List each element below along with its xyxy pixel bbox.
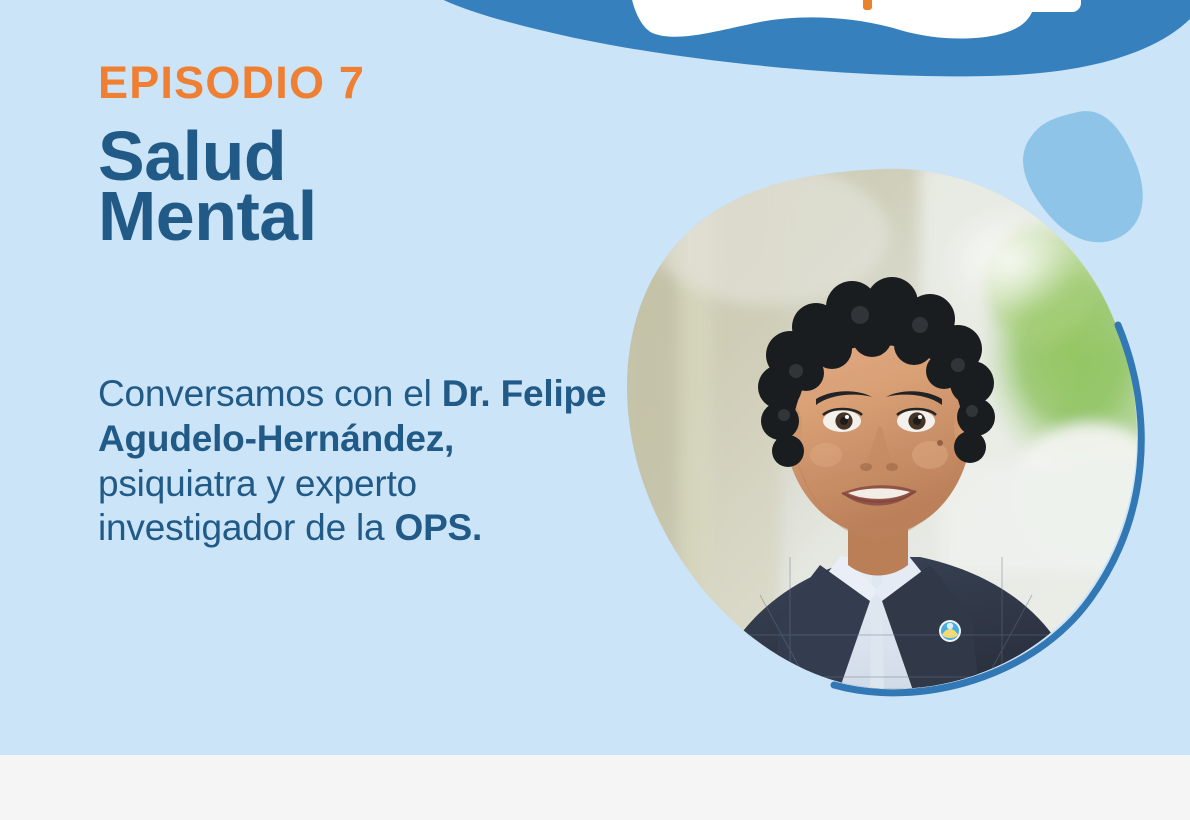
page-bottom-strip — [0, 755, 1190, 820]
guest-portrait-photo — [620, 165, 1150, 705]
episode-promo-card: EPISODIO 7 Salud Mental Conversamos con … — [0, 0, 1190, 820]
page-title: Salud Mental — [98, 126, 618, 246]
episode-number-label: EPISODIO 7 — [98, 60, 618, 106]
logo-orange-mark — [863, 0, 872, 10]
episode-description: Conversamos con el Dr. Felipe Agudelo-He… — [98, 372, 618, 551]
hero-text-column: EPISODIO 7 Salud Mental Conversamos con … — [98, 60, 618, 246]
podcast-logo-blob-cropped — [629, 0, 1036, 39]
logo-pill-cropped — [1001, 0, 1081, 12]
hero-card: EPISODIO 7 Salud Mental Conversamos con … — [0, 0, 1190, 755]
